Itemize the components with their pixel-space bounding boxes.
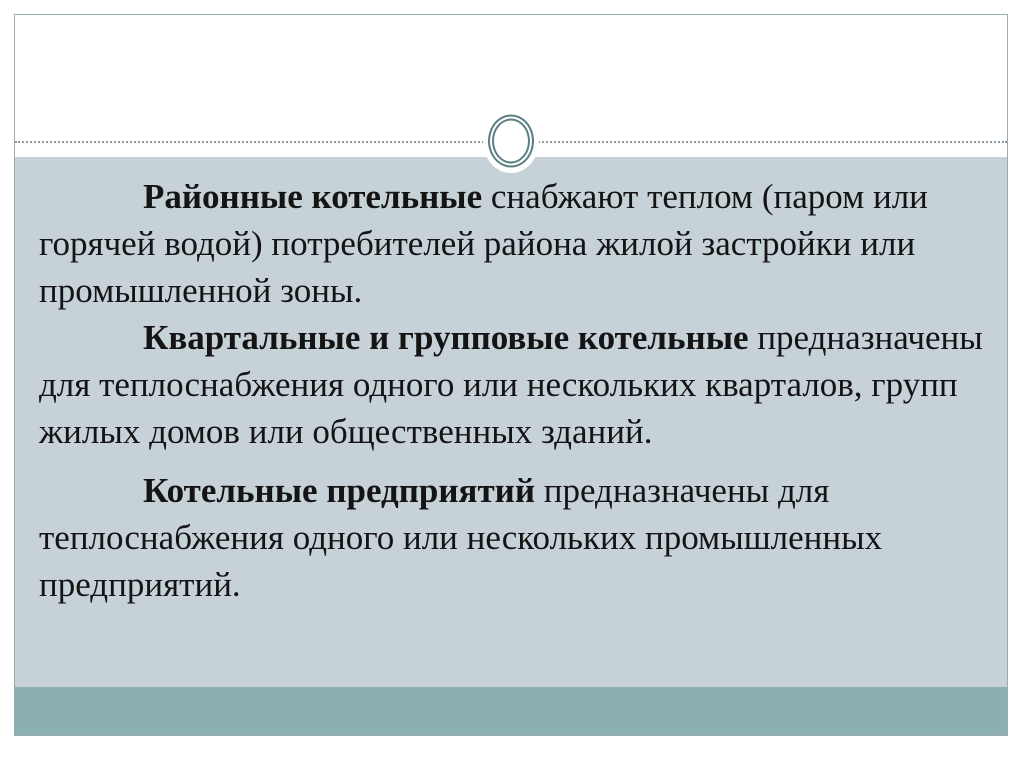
slide-footer-band [15, 687, 1007, 735]
presentation-slide: Районные котельные снабжают теплом (паро… [14, 14, 1008, 736]
paragraph-3-lead: Котельные предприятий [143, 471, 535, 510]
paragraph-3: Котельные предприятий предназначены для … [39, 467, 987, 608]
paragraph-2-lead: Квартальные и групповые котельные [143, 318, 749, 357]
paragraph-1: Районные котельные снабжают теплом (паро… [39, 173, 987, 314]
double-circle-ornament-icon [479, 106, 543, 176]
paragraph-1-lead: Районные котельные [143, 177, 482, 216]
ring-inner [492, 119, 530, 164]
paragraph-2: Квартальные и групповые котельные предна… [39, 314, 987, 455]
slide-body-text: Районные котельные снабжают теплом (паро… [39, 173, 987, 608]
